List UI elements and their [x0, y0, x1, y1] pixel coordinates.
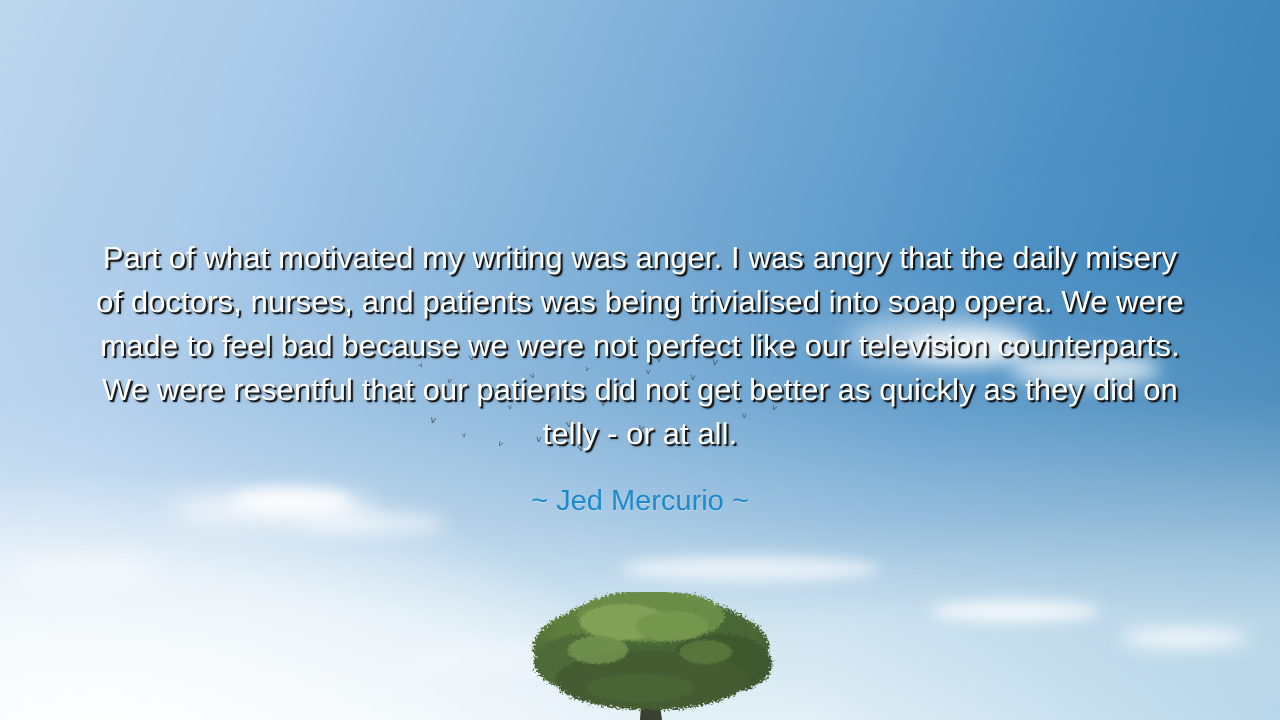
quote-text: Part of what motivated my writing was an… [90, 236, 1190, 456]
quote-image-canvas: vvvvvvvvvvvvvvvvvvvvvvvvvvvvvv [0, 0, 1280, 720]
quote-block: Part of what motivated my writing was an… [90, 236, 1190, 520]
quote-author: ~ Jed Mercurio ~ [90, 482, 1190, 520]
